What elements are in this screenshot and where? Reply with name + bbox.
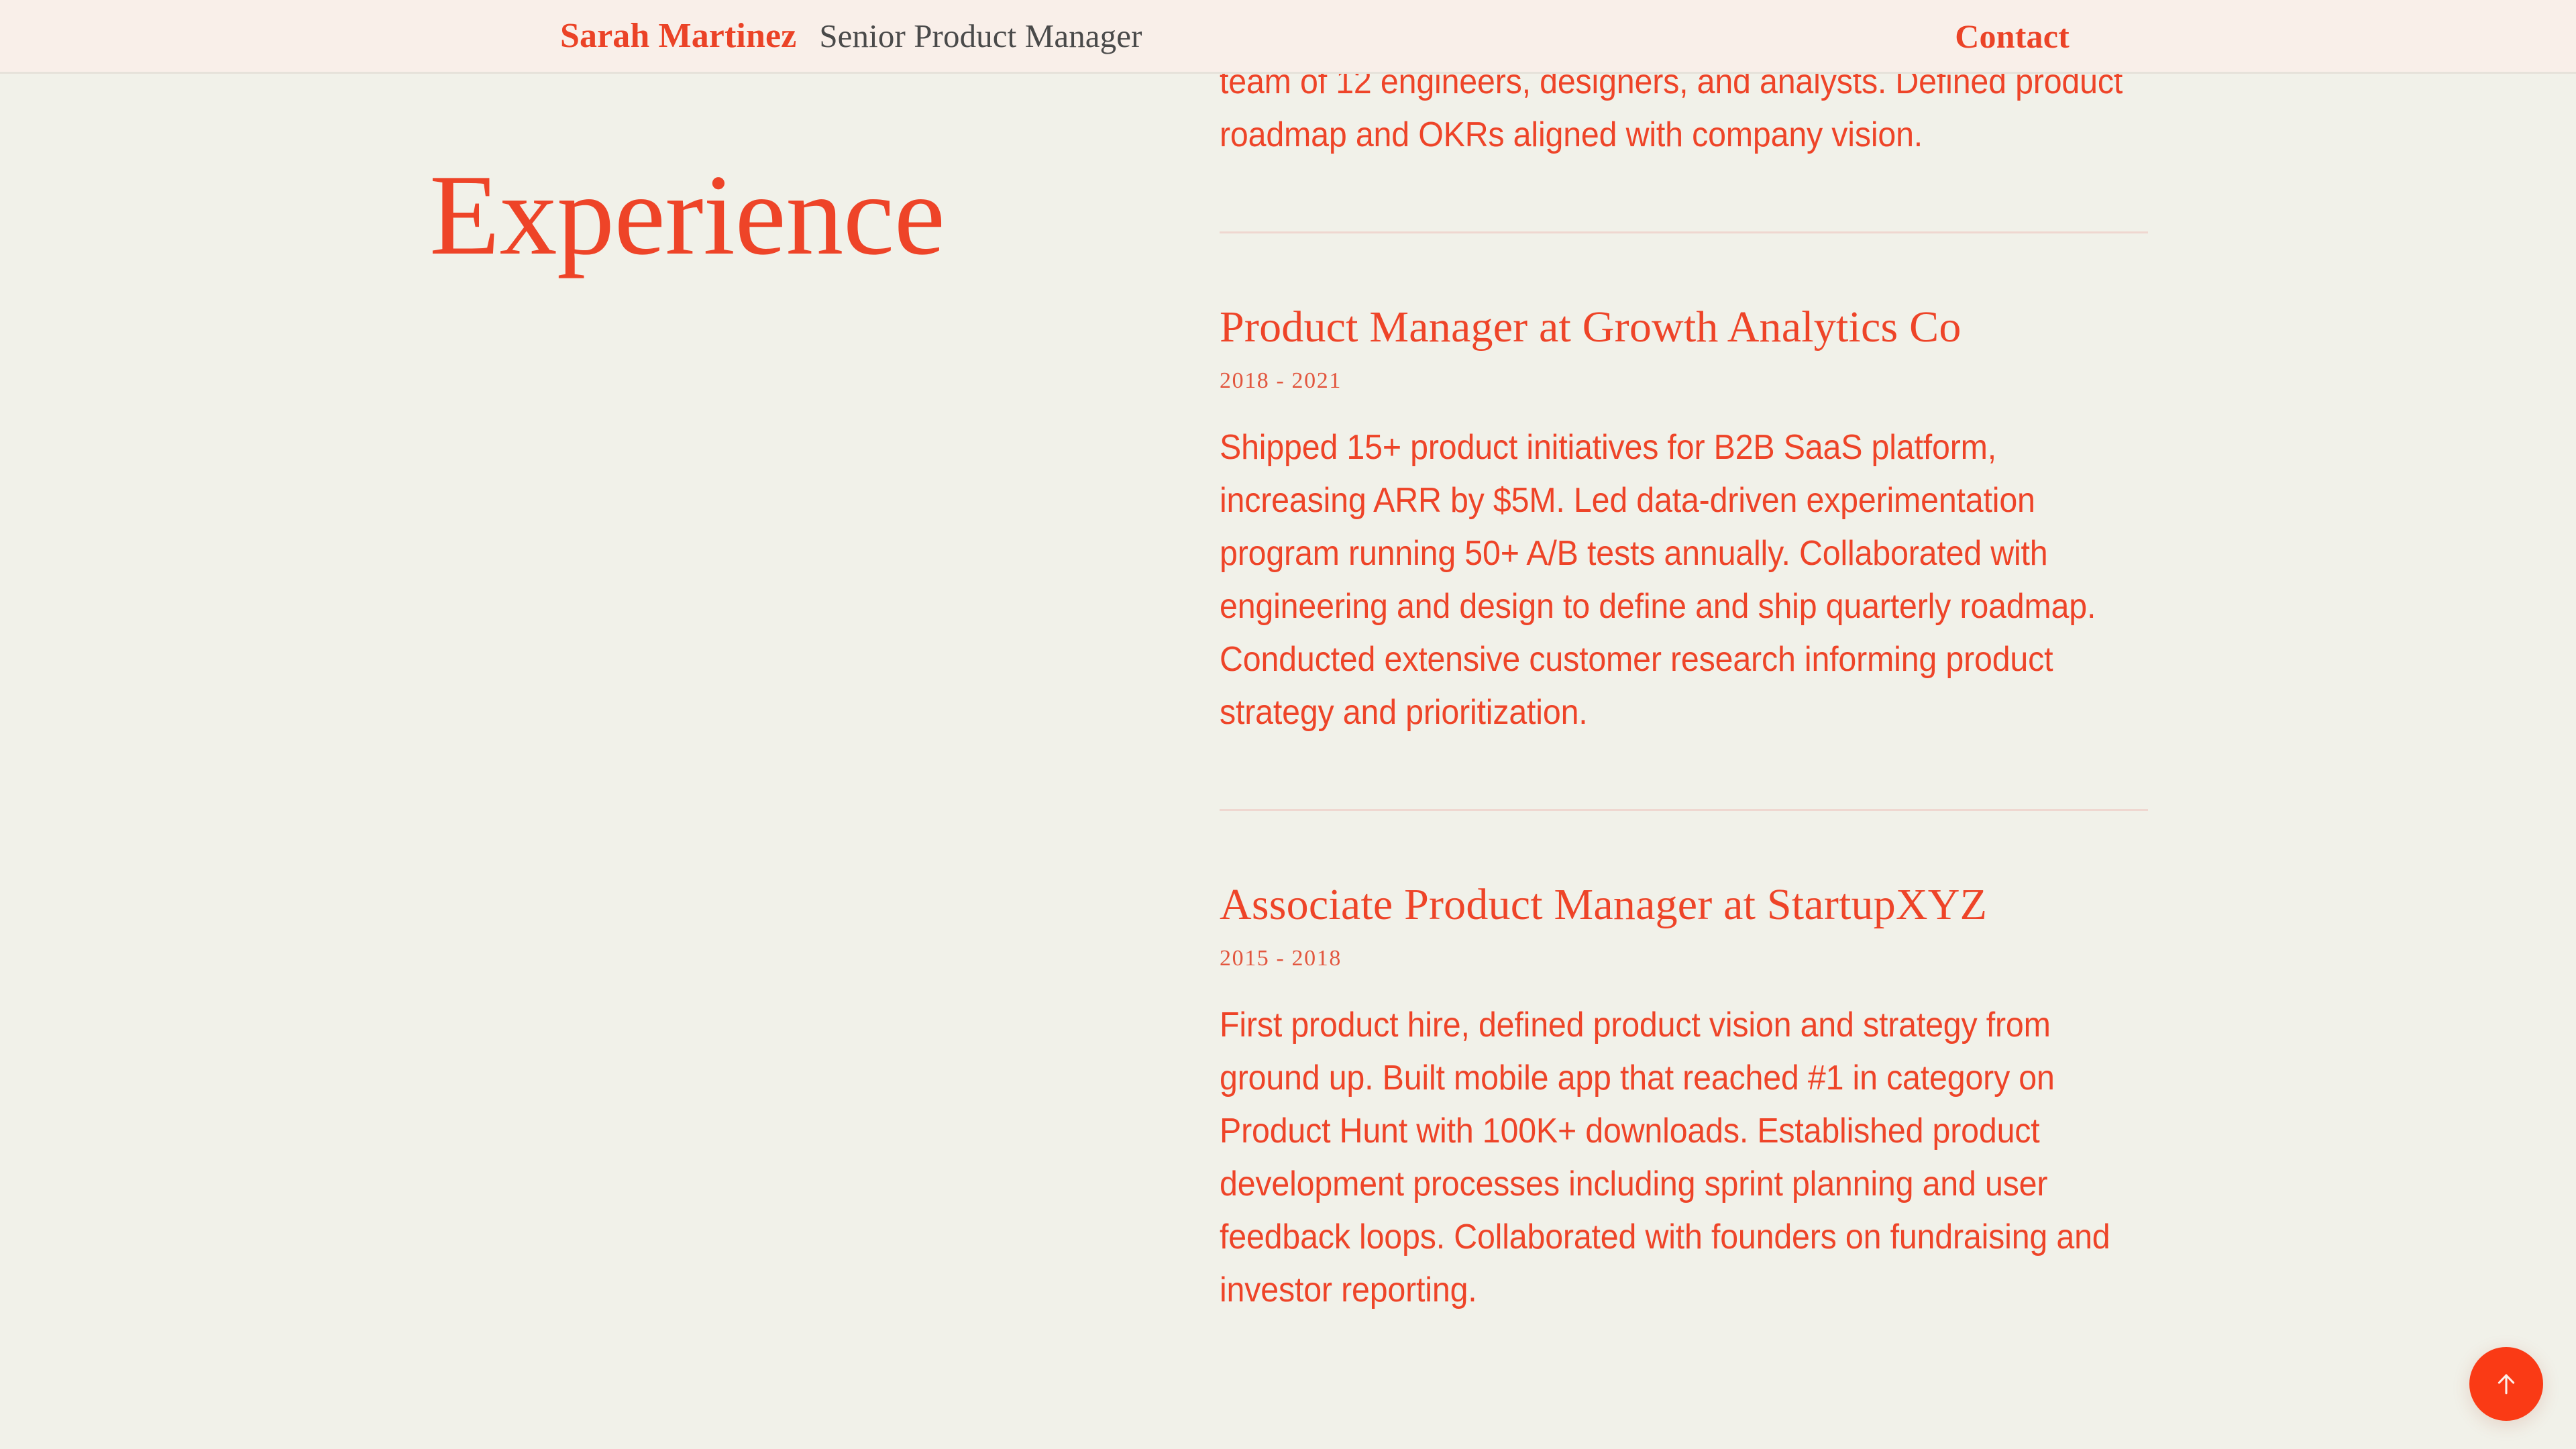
entry-job-title: Associate Product Manager at StartupXYZ bbox=[1220, 881, 2148, 930]
site-header: Sarah Martinez Senior Product Manager Co… bbox=[0, 0, 2576, 74]
experience-entry: Product Manager at Growth Analytics Co 2… bbox=[1220, 303, 2148, 739]
experience-entry: Associate Product Manager at StartupXYZ … bbox=[1220, 881, 2148, 1317]
entry-divider bbox=[1220, 809, 2148, 811]
experience-entry-list: Senior Product Manager at TechCorp 2021 … bbox=[1220, 0, 2148, 1317]
nav-link-contact[interactable]: Contact bbox=[1955, 0, 2070, 72]
scroll-to-top-button[interactable] bbox=[2469, 1347, 2543, 1421]
brand-name[interactable]: Sarah Martinez bbox=[560, 16, 796, 56]
experience-section-heading-column: Experience bbox=[429, 158, 1154, 273]
entry-job-title: Product Manager at Growth Analytics Co bbox=[1220, 303, 2148, 352]
page-root: Experience Senior Product Manager at Tec… bbox=[0, 0, 2576, 1449]
entry-description: Shipped 15+ product initiatives for B2B … bbox=[1220, 421, 2148, 739]
entry-date-range: 2015 - 2018 bbox=[1220, 946, 2148, 971]
arrow-up-icon bbox=[2491, 1369, 2521, 1399]
brand-block[interactable]: Sarah Martinez Senior Product Manager bbox=[560, 0, 1142, 72]
entry-divider bbox=[1220, 231, 2148, 233]
brand-role: Senior Product Manager bbox=[819, 17, 1142, 55]
page-title: Experience bbox=[429, 158, 1154, 273]
entry-description: First product hire, defined product visi… bbox=[1220, 999, 2148, 1317]
entry-date-range: 2018 - 2021 bbox=[1220, 368, 2148, 393]
